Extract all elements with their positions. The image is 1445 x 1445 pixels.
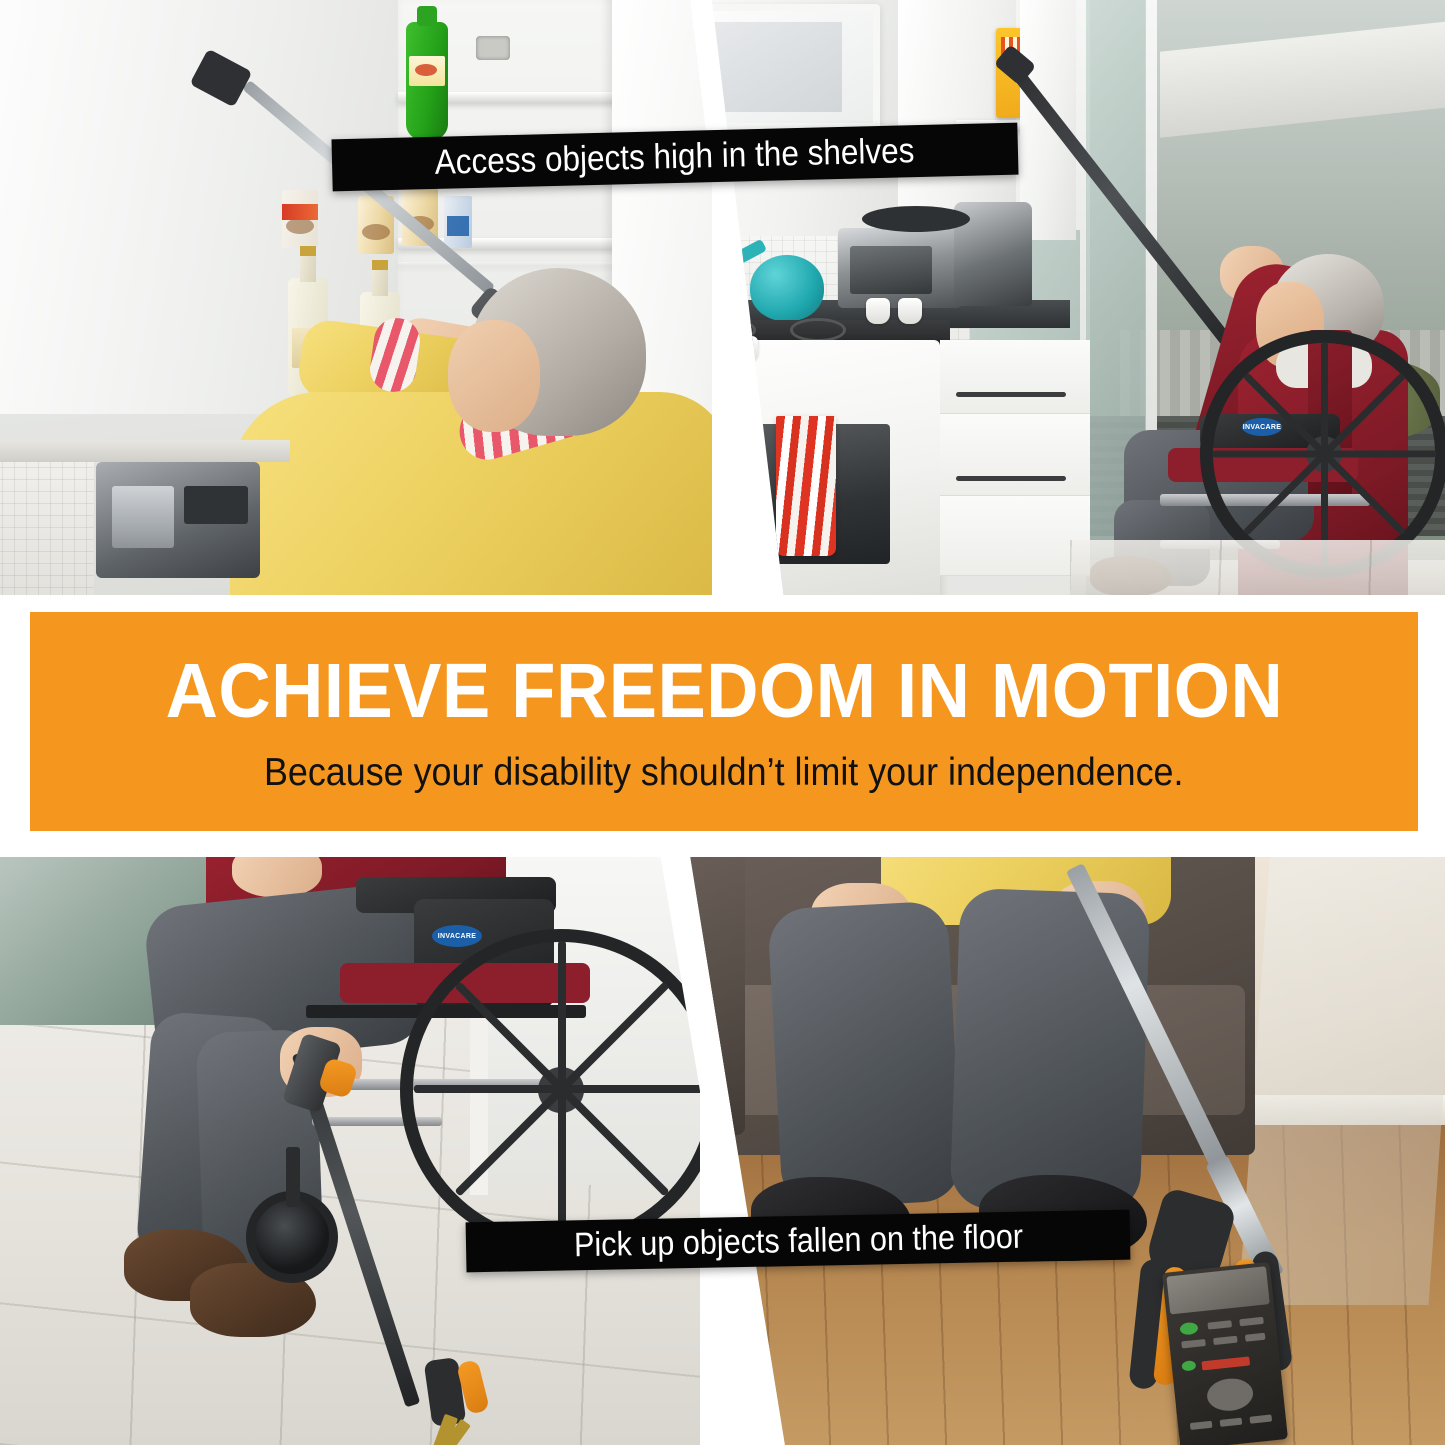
panel-top-right: INVACARE xyxy=(690,0,1445,600)
panel-bottom-left: INVACARE xyxy=(0,855,700,1445)
caption-bottom-text: Pick up objects fallen on the floor xyxy=(573,1217,1023,1265)
gutter-bottom xyxy=(0,829,1445,857)
remote-button xyxy=(1239,1317,1264,1326)
remote-button xyxy=(1220,1418,1243,1427)
drawer-handle xyxy=(956,392,1066,397)
remote-button xyxy=(1190,1421,1213,1430)
green-soda-bottle xyxy=(406,22,448,140)
gutter-top xyxy=(0,595,1445,613)
food-can xyxy=(282,190,318,248)
wheel-spoke xyxy=(414,1085,562,1093)
burner xyxy=(790,318,846,342)
orange-banner: ACHIEVE FREEDOM IN MOTION Because your d… xyxy=(30,612,1418,831)
remote-record-button xyxy=(1201,1356,1250,1370)
wheel-spoke xyxy=(1321,342,1328,454)
remote-button xyxy=(1213,1336,1238,1345)
face xyxy=(448,320,540,432)
caster-fork xyxy=(286,1147,300,1207)
striped-kitchen-towel xyxy=(776,416,836,556)
oven-knob xyxy=(866,298,890,324)
remote-button xyxy=(1245,1333,1266,1342)
trousers-left xyxy=(767,900,962,1209)
oven-knob xyxy=(734,336,758,362)
tv-remote xyxy=(1162,1262,1288,1445)
wheel-spoke xyxy=(558,941,566,1089)
appliance-display xyxy=(184,486,248,524)
remote-dpad xyxy=(1206,1376,1255,1413)
appliance-control-panel xyxy=(112,486,174,548)
banner-subline: Because your disability shouldn’t limit … xyxy=(264,752,1183,795)
kitchen-floor xyxy=(1070,540,1445,600)
hand-upper xyxy=(232,855,322,897)
trousers-right xyxy=(949,888,1150,1214)
teal-kettle xyxy=(750,255,824,321)
banner-headline: ACHIEVE FREEDOM IN MOTION xyxy=(165,653,1283,730)
remote-button xyxy=(1249,1414,1272,1423)
panel-top-left xyxy=(0,0,712,600)
packaged-box xyxy=(444,196,472,248)
toaster-window xyxy=(850,246,932,294)
remote-button xyxy=(1181,1339,1206,1348)
microwave-window xyxy=(696,22,842,112)
panel-bottom-right xyxy=(655,855,1445,1445)
remote-power-button xyxy=(1179,1322,1198,1336)
cabinet-hinge xyxy=(476,36,510,60)
glass-partition xyxy=(1239,855,1445,1305)
marketing-collage: INVACARE INVACA xyxy=(0,0,1445,1445)
oven-knob xyxy=(898,298,922,324)
remote-button xyxy=(1181,1360,1196,1371)
caption-top-text: Access objects high in the shelves xyxy=(435,131,916,183)
base-drawer xyxy=(940,414,1090,496)
wheel-spoke xyxy=(1325,451,1437,458)
drawer-handle xyxy=(956,476,1066,481)
invacare-badge-text: INVACARE xyxy=(432,925,482,947)
base-drawer xyxy=(940,496,1090,576)
remote-button xyxy=(1207,1320,1232,1329)
wheel-spoke xyxy=(1213,451,1325,458)
remote-top-panel xyxy=(1166,1266,1269,1314)
cabinet-shelf xyxy=(398,262,648,266)
frying-pan xyxy=(862,206,970,232)
wheel-spoke xyxy=(558,1089,566,1237)
kitchen-counter xyxy=(0,440,290,462)
wheel-spoke xyxy=(562,1085,700,1093)
bottle-label xyxy=(409,56,445,86)
backsplash-tile xyxy=(0,462,94,600)
base-drawer xyxy=(940,340,1090,414)
invacare-badge: INVACARE xyxy=(432,925,482,947)
